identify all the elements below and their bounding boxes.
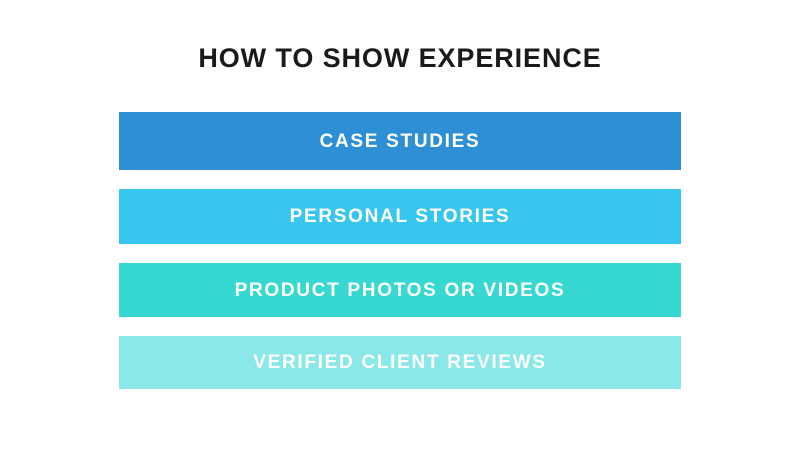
bar-item-case-studies[interactable]: CASE STUDIES bbox=[119, 112, 681, 170]
bar-item-personal-stories[interactable]: PERSONAL STORIES bbox=[119, 189, 681, 244]
bar-list: CASE STUDIES PERSONAL STORIES PRODUCT PH… bbox=[119, 112, 681, 389]
bar-label: CASE STUDIES bbox=[320, 132, 481, 151]
bar-item-verified-client-reviews[interactable]: VERIFIED CLIENT REVIEWS bbox=[119, 336, 681, 389]
slide-canvas: HOW TO SHOW EXPERIENCE CASE STUDIES PERS… bbox=[0, 0, 800, 450]
bar-label: PRODUCT PHOTOS OR VIDEOS bbox=[235, 281, 566, 300]
bar-label: VERIFIED CLIENT REVIEWS bbox=[253, 353, 547, 372]
bar-item-product-photos-or-videos[interactable]: PRODUCT PHOTOS OR VIDEOS bbox=[119, 263, 681, 317]
page-title: HOW TO SHOW EXPERIENCE bbox=[0, 44, 800, 74]
bar-label: PERSONAL STORIES bbox=[290, 207, 511, 226]
